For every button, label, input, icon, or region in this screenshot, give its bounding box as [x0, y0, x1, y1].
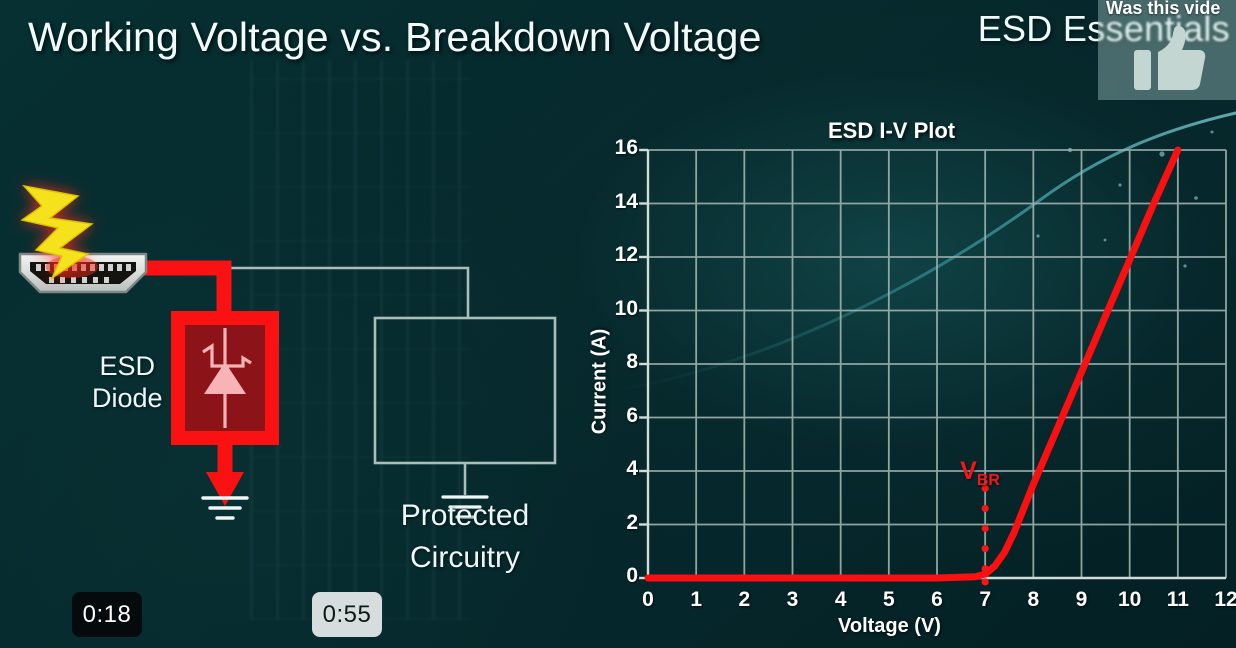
surge-current-path — [138, 268, 224, 318]
vbr-symbol: V — [960, 457, 977, 485]
chart-x-axis-label: Voltage (V) — [838, 615, 941, 638]
chart-x-tick: 6 — [922, 588, 952, 612]
chart-y-tick: 0 — [600, 564, 638, 588]
circuit-diagram: ESD Diode Protected Circuitry — [0, 150, 600, 570]
chart-x-tick: 12 — [1211, 588, 1236, 612]
chart-x-tick: 10 — [1115, 588, 1145, 612]
protected-circuitry-label-line2: Circuitry — [410, 541, 520, 574]
chart-x-tick: 0 — [633, 588, 663, 612]
chart-x-tick: 1 — [681, 588, 711, 612]
esd-diode-label-line1: ESD — [100, 351, 156, 381]
protected-circuitry-box — [375, 318, 555, 463]
esd-diode-label-line2: Diode — [92, 382, 163, 414]
chart-y-tick: 2 — [600, 511, 638, 535]
chart-x-tick: 11 — [1163, 588, 1193, 612]
chart-y-tick: 12 — [600, 243, 638, 267]
survey-prompt: Was this vide — [1106, 0, 1236, 19]
esd-diode-label: ESD Diode — [92, 350, 163, 414]
current-arrow — [206, 472, 244, 506]
protected-circuitry-label-line1: Protected — [401, 499, 529, 532]
chart-x-tick: 2 — [729, 588, 759, 612]
chart-x-tick: 7 — [970, 588, 1000, 612]
protected-circuitry-label: Protected Circuitry — [375, 495, 555, 579]
slide-canvas: Working Voltage vs. Breakdown Voltage ES… — [0, 0, 1236, 648]
chart-x-tick: 5 — [874, 588, 904, 612]
chart-y-tick: 14 — [600, 190, 638, 214]
esd-iv-chart: ESD I-V Plot Current (A) Voltage (V) VBR… — [578, 110, 1236, 648]
timestamp-total[interactable]: 0:55 — [312, 592, 382, 637]
page-title: Working Voltage vs. Breakdown Voltage — [28, 14, 762, 61]
chart-plot-area — [578, 110, 1236, 610]
chart-gridlines — [648, 150, 1226, 578]
hdmi-connector — [20, 254, 146, 292]
chart-y-tick: 8 — [600, 350, 638, 374]
vbr-subscript: BR — [977, 472, 1000, 489]
timestamp-current[interactable]: 0:18 — [72, 592, 142, 637]
chart-x-tick: 3 — [778, 588, 808, 612]
chart-x-tick: 9 — [1067, 588, 1097, 612]
breakdown-voltage-label: VBR — [960, 457, 1000, 490]
chart-y-tick: 6 — [600, 404, 638, 428]
chart-x-tick: 4 — [826, 588, 856, 612]
thumbs-up-icon[interactable] — [1134, 24, 1208, 94]
chart-y-tick: 10 — [600, 297, 638, 321]
chart-x-tick: 8 — [1018, 588, 1048, 612]
video-survey-overlay[interactable]: Was this vide — [1098, 0, 1236, 100]
chart-y-tick: 16 — [600, 136, 638, 160]
chart-y-tick: 4 — [600, 457, 638, 481]
